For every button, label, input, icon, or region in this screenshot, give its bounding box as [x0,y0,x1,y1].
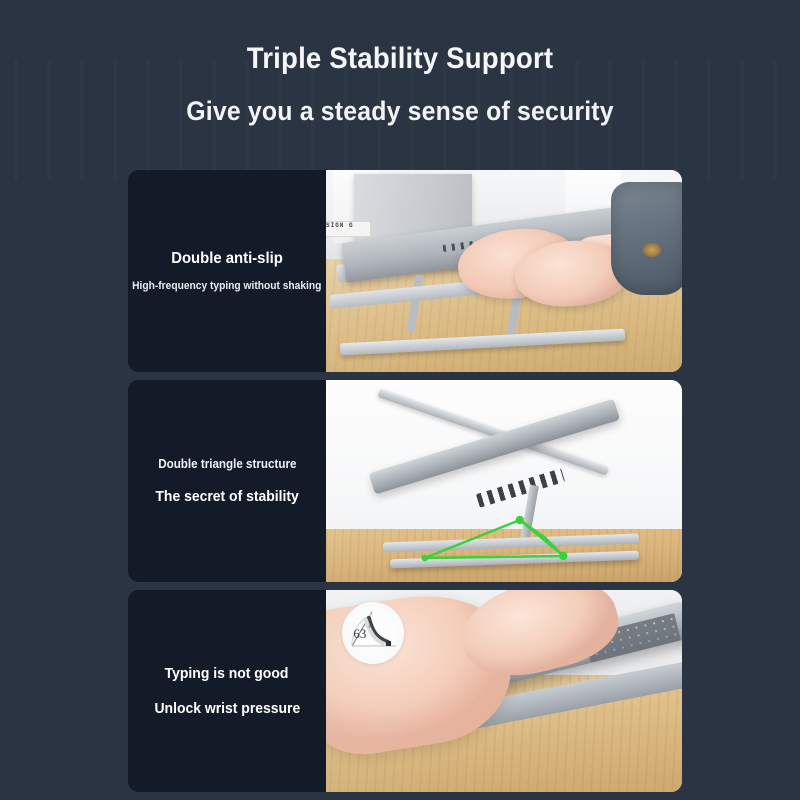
card-photo-typing-on-stand: SIGN G [326,170,682,372]
badge-degree-symbol: ° [368,624,371,632]
card-subheading: The secret of stability [155,488,298,505]
promo-page: Triple Stability Support Give you a stea… [0,0,800,800]
card-photo-triangle-structure [326,380,682,582]
card-text-panel: Typing is not good Unlock wrist pressure [128,590,326,792]
card-photo-wrist-rest: 63 ° [326,590,682,792]
feature-card-double-triangle[interactable]: Double triangle structure The secret of … [128,380,682,582]
feature-card-list: Double anti-slip High-frequency typing w… [128,170,682,800]
green-triangle-overlay [326,380,682,582]
card-subheading: High-frequency typing without shaking [132,280,321,292]
page-subtitle: Give you a steady sense of security [32,96,768,127]
page-title: Triple Stability Support [32,42,768,76]
badge-angle-value: 63 [353,626,366,642]
header-block: Triple Stability Support Give you a stea… [0,42,800,127]
wrist-angle-badge: 63 ° [342,602,404,664]
card-heading: Double triangle structure [158,457,296,471]
card-heading: Typing is not good [165,665,289,682]
card-text-panel: Double triangle structure The secret of … [128,380,326,582]
feature-card-double-anti-slip[interactable]: Double anti-slip High-frequency typing w… [128,170,682,372]
laptop-label-text: SIGN G [326,222,354,229]
denim-sleeve [611,182,682,295]
card-heading: Double anti-slip [171,250,283,268]
wrist-angle-diagram-icon [342,602,404,664]
sleeve-button [643,243,661,257]
feature-card-wrist-pressure[interactable]: Typing is not good Unlock wrist pressure [128,590,682,792]
card-subheading: Unlock wrist pressure [154,700,300,717]
card-text-panel: Double anti-slip High-frequency typing w… [128,170,326,372]
